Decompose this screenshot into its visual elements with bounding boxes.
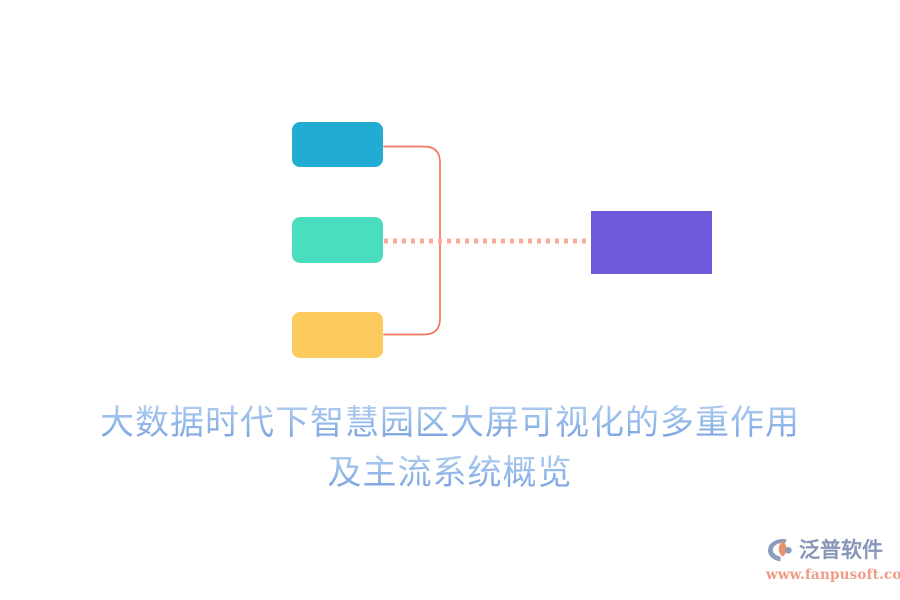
- brand-logo-row: 泛普软件: [766, 534, 892, 566]
- brand-logo: 泛普软件 www.fanpusoft.com: [766, 534, 892, 590]
- brand-wordmark: 泛普软件: [799, 537, 883, 563]
- diagram-node-green[interactable]: [292, 217, 383, 263]
- diagram-node-blue[interactable]: [292, 122, 383, 167]
- page-title-line-1: 大数据时代下智慧园区大屏可视化的多重作用: [0, 398, 900, 448]
- diagram: [0, 0, 900, 390]
- fanpu-swoosh-icon: [766, 537, 796, 563]
- diagram-node-yellow[interactable]: [292, 312, 383, 358]
- connector-blue-to-junction: [384, 147, 440, 241]
- connector-yellow-to-junction: [384, 242, 440, 335]
- diagram-node-purple[interactable]: [591, 211, 712, 274]
- brand-url: www.fanpusoft.com: [766, 567, 892, 583]
- page-title: 大数据时代下智慧园区大屏可视化的多重作用 及主流系统概览: [0, 398, 900, 498]
- connector-lines: [0, 0, 900, 390]
- page-canvas: 大数据时代下智慧园区大屏可视化的多重作用 及主流系统概览 泛普软件 www.fa…: [0, 0, 900, 600]
- page-title-line-2: 及主流系统概览: [0, 448, 900, 498]
